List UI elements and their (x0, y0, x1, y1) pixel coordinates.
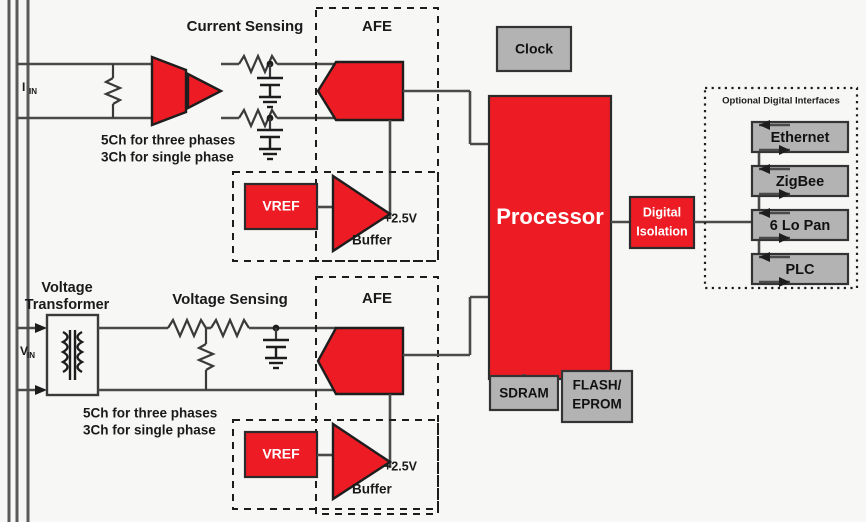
block-diagram: Current Sensing I IN 5Ch for three phase… (0, 0, 866, 522)
interface-zigbee-label: ZigBee (776, 174, 824, 190)
svg-text:3Ch for single phase: 3Ch for single phase (101, 150, 234, 165)
svg-text:IN: IN (27, 351, 35, 360)
voltage-buffer-voltage: +2.5V (384, 459, 418, 473)
current-vref-label: VREF (262, 198, 300, 214)
voltage-afe-block (318, 328, 403, 394)
svg-text:Voltage: Voltage (41, 280, 92, 296)
svg-text:5Ch for three phases: 5Ch for three phases (83, 406, 217, 421)
isolation-label-line2: Isolation (636, 224, 687, 238)
processor-block[interactable] (489, 96, 611, 379)
clock-label: Clock (515, 41, 553, 57)
current-sensing-title: Current Sensing (187, 18, 304, 35)
svg-text:IN: IN (29, 87, 37, 96)
svg-text:3Ch for single phase: 3Ch for single phase (83, 423, 216, 438)
diagram-canvas: Current Sensing I IN 5Ch for three phase… (0, 0, 866, 522)
flash-label-line1: FLASH/ (573, 378, 622, 393)
sdram-label: SDRAM (499, 386, 549, 401)
processor-label: Processor (496, 204, 604, 229)
voltage-transformer-block (47, 315, 98, 395)
current-afe-title: AFE (362, 18, 392, 35)
interface-6lopan-group[interactable]: 6 Lo Pan (752, 208, 848, 243)
interface-plc-label: PLC (786, 262, 816, 278)
svg-text:I: I (22, 80, 25, 94)
current-buffer-label: Buffer (352, 233, 392, 248)
flash-label-line2: EPROM (572, 397, 622, 412)
interface-ethernet-label: Ethernet (771, 130, 830, 146)
voltage-afe-title: AFE (362, 290, 392, 307)
svg-text:5Ch for three phases: 5Ch for three phases (101, 133, 235, 148)
current-transformer-symbol (152, 57, 186, 125)
voltage-vref-label: VREF (262, 446, 300, 462)
current-buffer-voltage: +2.5V (384, 211, 418, 225)
interface-plc-group[interactable]: PLC (752, 252, 848, 287)
voltage-buffer-label: Buffer (352, 482, 392, 497)
interface-ethernet-group[interactable]: Ethernet (752, 120, 848, 155)
voltage-sensing-title: Voltage Sensing (172, 291, 288, 308)
interfaces-group-title: Optional Digital Interfaces (722, 96, 840, 107)
interface-6lopan-label: 6 Lo Pan (770, 218, 830, 234)
svg-text:Transformer: Transformer (25, 297, 110, 313)
isolation-label-line1: Digital (643, 205, 681, 219)
interface-zigbee-group[interactable]: ZigBee (752, 164, 848, 199)
current-afe-block (318, 62, 403, 120)
